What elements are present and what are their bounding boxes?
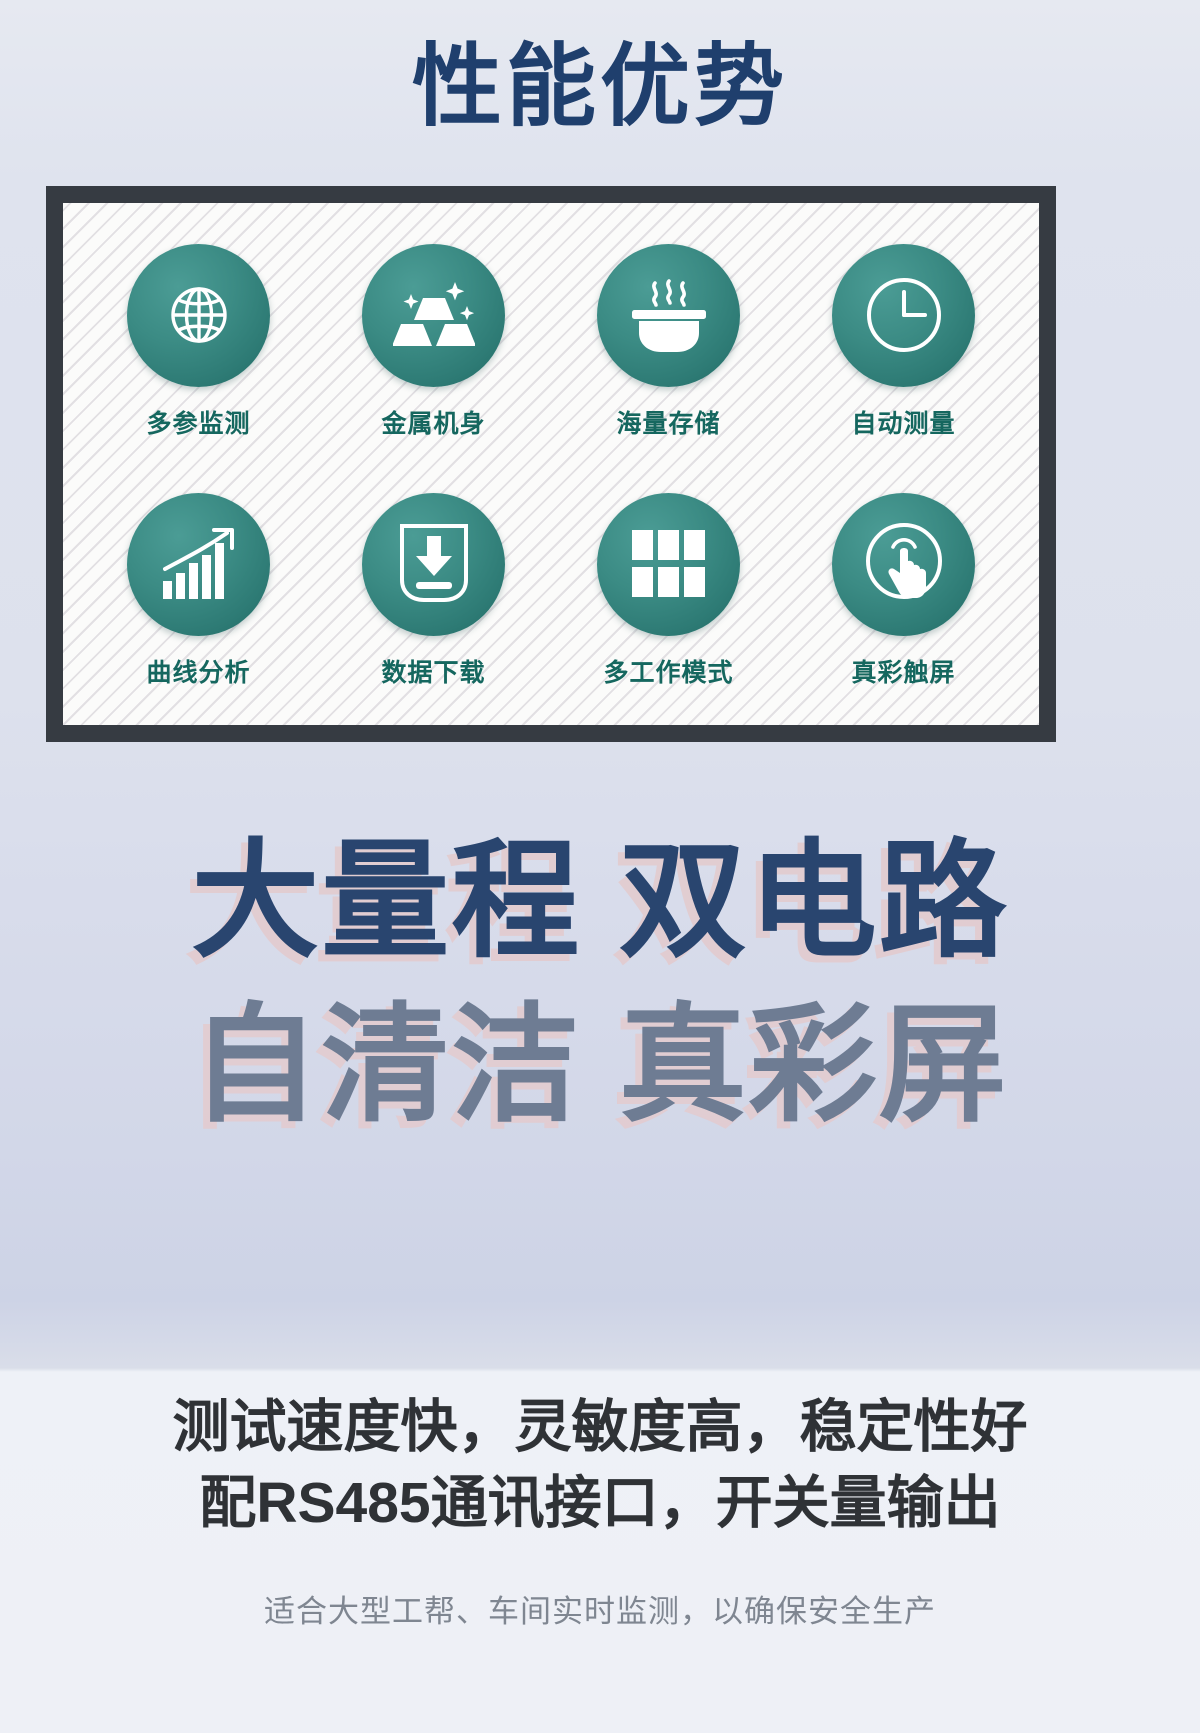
- gold-bars-icon: [362, 244, 505, 387]
- feature-item-auto-measure[interactable]: 自动测量: [786, 244, 1021, 440]
- feature-label: 多参监测: [146, 404, 250, 440]
- download-icon: [362, 493, 505, 636]
- bottom-copy-block: 测试速度快，灵敏度高，稳定性好 配RS485通讯接口，开关量输出 适合大型工帮、…: [0, 1390, 1200, 1631]
- feature-item-globe[interactable]: 多参监测: [81, 244, 316, 440]
- touch-screen-icon: [832, 493, 975, 636]
- feature-label: 金属机身: [381, 404, 485, 440]
- feature-label: 真彩触屏: [851, 653, 955, 689]
- slogan-block: 大量程 双电路 自清洁 真彩屏: [0, 820, 1200, 1148]
- page-title: 性能优势: [0, 36, 1200, 140]
- globe-icon: [127, 244, 270, 387]
- feature-label: 数据下载: [381, 653, 485, 689]
- clock-icon: [832, 244, 975, 387]
- feature-label: 多工作模式: [603, 653, 733, 689]
- feature-item-data-download[interactable]: 数据下载: [316, 493, 551, 689]
- steaming-pot-icon: [597, 244, 740, 387]
- feature-item-touch-screen[interactable]: 真彩触屏: [786, 493, 1021, 689]
- bottom-line-1: 测试速度快，灵敏度高，稳定性好: [0, 1390, 1200, 1466]
- feature-frame: 多参监测: [46, 186, 1056, 742]
- slogan-line-2: 自清洁 真彩屏: [0, 984, 1200, 1148]
- bar-chart-icon: [127, 493, 270, 636]
- grid-icon: [597, 493, 740, 636]
- bottom-note: 适合大型工帮、车间实时监测，以确保安全生产: [0, 1586, 1200, 1631]
- feature-item-curve-analysis[interactable]: 曲线分析: [81, 493, 316, 689]
- feature-item-work-modes[interactable]: 多工作模式: [551, 493, 786, 689]
- feature-item-storage[interactable]: 海量存储: [551, 244, 786, 440]
- bottom-line-2: 配RS485通讯接口，开关量输出: [0, 1466, 1200, 1542]
- feature-panel: 多参监测: [63, 203, 1039, 725]
- feature-label: 海量存储: [616, 404, 720, 440]
- feature-label: 自动测量: [851, 404, 955, 440]
- feature-icon-grid: 多参监测: [63, 203, 1039, 725]
- feature-label: 曲线分析: [146, 653, 250, 689]
- promo-page: 性能优势: [0, 0, 1200, 1733]
- slogan-line-1: 大量程 双电路: [0, 820, 1200, 984]
- feature-item-gold-bars[interactable]: 金属机身: [316, 244, 551, 440]
